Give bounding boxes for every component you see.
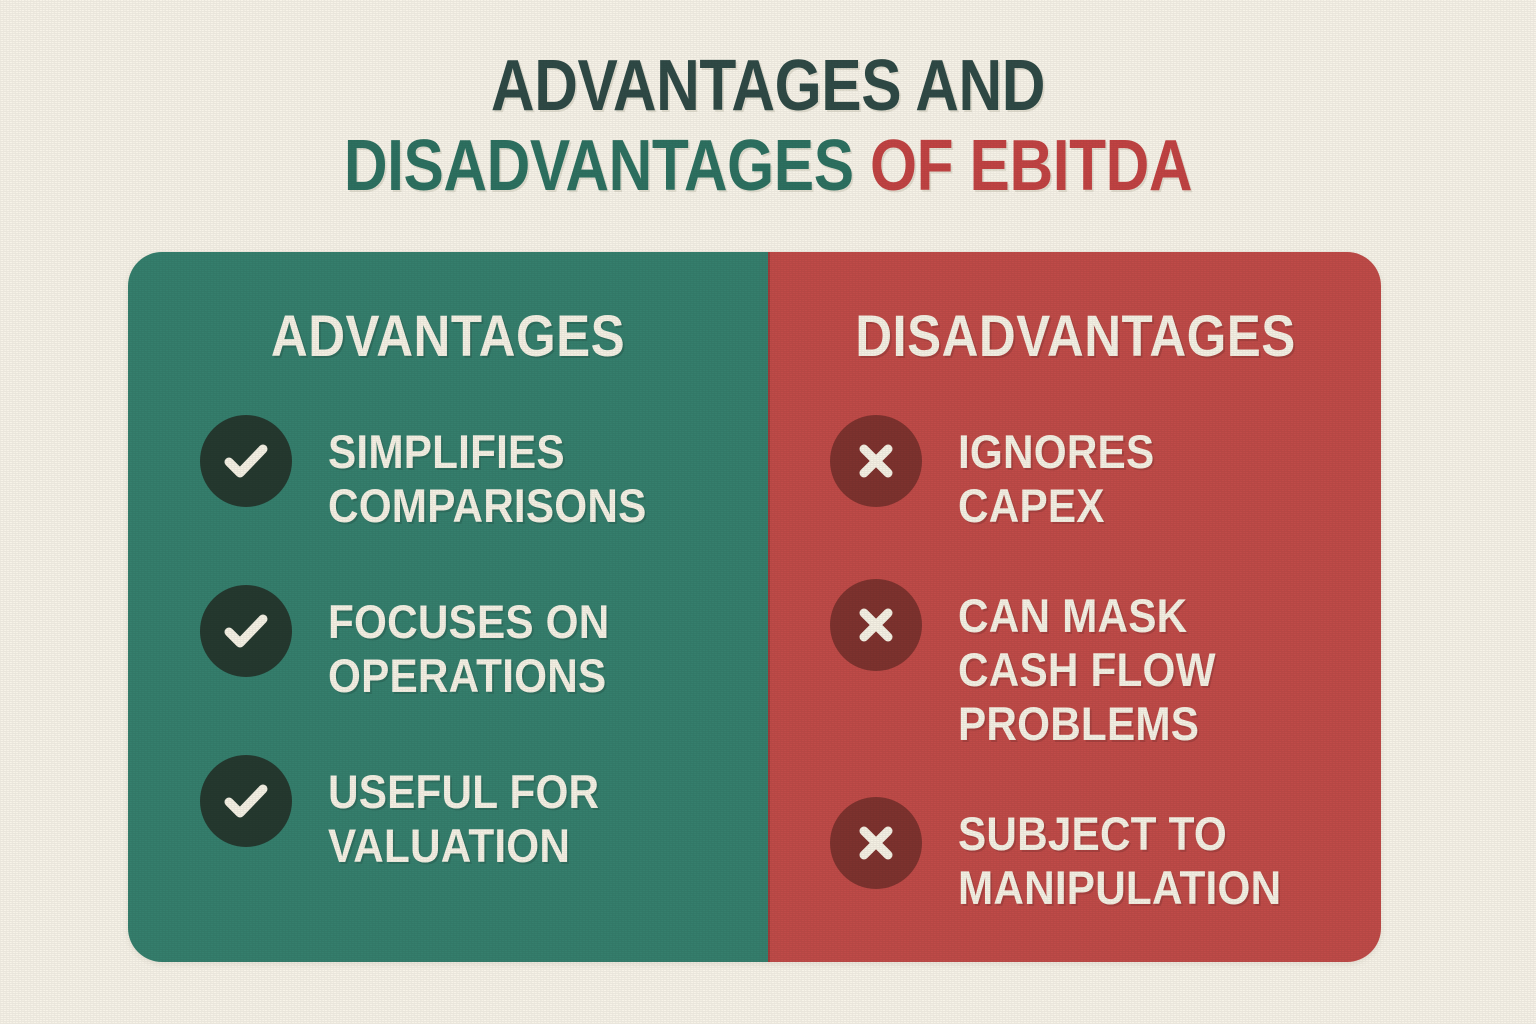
advantages-list: SIMPLIFIES COMPARISONS FOCUSES ON OPERAT… <box>200 415 748 925</box>
list-item: SUBJECT TO MANIPULATION <box>830 797 1361 915</box>
title-line-2-disadvantages: DISADVANTAGES <box>344 126 854 206</box>
advantage-label: USEFUL FOR VALUATION <box>328 755 599 873</box>
list-item: IGNORES CAPEX <box>830 415 1361 533</box>
advantages-heading: ADVANTAGES <box>166 306 729 368</box>
check-icon <box>200 585 292 677</box>
disadvantage-label: IGNORES CAPEX <box>958 415 1154 533</box>
disadvantages-heading: DISADVANTAGES <box>807 306 1345 368</box>
title-line-1: ADVANTAGES AND <box>123 46 1413 126</box>
check-icon <box>200 755 292 847</box>
disadvantage-label: SUBJECT TO MANIPULATION <box>958 797 1281 915</box>
disadvantage-label: CAN MASK CASH FLOW PROBLEMS <box>958 579 1216 751</box>
advantage-label: SIMPLIFIES COMPARISONS <box>328 415 646 533</box>
advantages-panel: ADVANTAGES SIMPLIFIES COMPARISONS <box>128 252 768 962</box>
title-line-2: DISADVANTAGES OF EBITDA <box>123 126 1413 206</box>
x-icon <box>830 415 922 507</box>
list-item: FOCUSES ON OPERATIONS <box>200 585 748 703</box>
page-title: ADVANTAGES AND DISADVANTAGES OF EBITDA <box>0 46 1536 206</box>
list-item: SIMPLIFIES COMPARISONS <box>200 415 748 533</box>
x-icon <box>830 797 922 889</box>
title-line-2-of-ebitda: OF EBITDA <box>854 126 1193 206</box>
check-icon <box>200 415 292 507</box>
x-icon <box>830 579 922 671</box>
comparison-card: ADVANTAGES SIMPLIFIES COMPARISONS <box>128 252 1381 962</box>
disadvantages-list: IGNORES CAPEX CAN MASK CASH FLOW PROBLEM… <box>830 415 1361 961</box>
list-item: USEFUL FOR VALUATION <box>200 755 748 873</box>
infographic-stage: ADVANTAGES AND DISADVANTAGES OF EBITDA A… <box>0 0 1536 1024</box>
advantage-label: FOCUSES ON OPERATIONS <box>328 585 609 703</box>
disadvantages-panel: DISADVANTAGES IGNORES CAPEX <box>768 252 1381 962</box>
list-item: CAN MASK CASH FLOW PROBLEMS <box>830 579 1361 751</box>
